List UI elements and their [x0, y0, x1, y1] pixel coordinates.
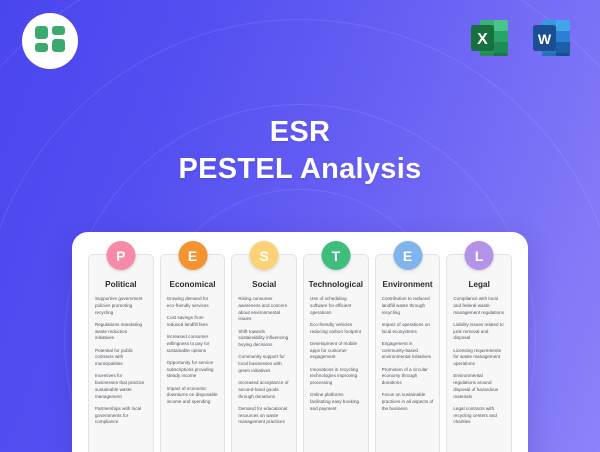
pestel-letter-badge: T — [321, 241, 350, 270]
pestel-letter-badge: S — [250, 241, 279, 270]
pestel-item: Potential for public contracts with muni… — [95, 348, 147, 368]
pestel-item: Increased acceptance of second-hand good… — [238, 380, 290, 400]
pestel-columns: PPoliticalSupportive government policies… — [88, 254, 512, 452]
pestel-item-list: Rising consumer awareness and concern ab… — [232, 296, 296, 426]
excel-icon[interactable]: X — [466, 14, 514, 62]
pestel-column-social[interactable]: SSocialRising consumer awareness and con… — [231, 254, 297, 452]
pestel-column-economical[interactable]: EEconomicalGrowing demand for eco-friend… — [160, 254, 226, 452]
pestel-item: Increased consumer willingness to pay fo… — [167, 334, 219, 354]
pestel-item: Impact of economic downturns on disposab… — [167, 386, 219, 406]
office-app-icons: X W — [466, 14, 576, 62]
pestel-column-title: Technological — [304, 280, 368, 296]
pestel-item: Impact of operations on local ecosystems — [382, 322, 434, 336]
pestel-column-technological[interactable]: TTechnologicalUse of scheduling software… — [303, 254, 369, 452]
pestel-item: Environmental regulations around disposa… — [453, 373, 505, 400]
pestel-column-title: Legal — [447, 280, 511, 296]
svg-text:X: X — [477, 31, 488, 48]
word-icon[interactable]: W — [528, 14, 576, 62]
pestel-item: Growing demand for eco-friendly services — [167, 296, 219, 310]
svg-text:W: W — [538, 31, 552, 47]
pestel-item: Use of scheduling software for efficient… — [310, 296, 362, 316]
pestel-item: Partnerships with local governments for … — [95, 406, 147, 426]
pestel-column-title: Social — [232, 280, 296, 296]
pestel-item: Focus on sustainable practices in all as… — [382, 392, 434, 412]
pestel-item-list: Growing demand for eco-friendly services… — [161, 296, 225, 406]
pestel-column-title: Economical — [161, 280, 225, 296]
pestel-letter-badge: E — [178, 241, 207, 270]
pestel-letter-badge: E — [393, 241, 422, 270]
pestel-item-list: Contribution to reduced landfill waste t… — [376, 296, 440, 413]
pestel-item: Promotion of a circular economy through … — [382, 367, 434, 387]
pestel-item: Rising consumer awareness and concern ab… — [238, 296, 290, 323]
title-line-2: PESTEL Analysis — [0, 150, 600, 189]
pestel-item: Compliance with local and federal waste … — [453, 296, 505, 316]
pestel-item: Contribution to reduced landfill waste t… — [382, 296, 434, 316]
pestel-item: Engagement in community-based environmen… — [382, 341, 434, 361]
pestel-column-political[interactable]: PPoliticalSupportive government policies… — [88, 254, 154, 452]
pestel-column-title: Political — [89, 280, 153, 296]
pestel-item: Innovations in recycling technologies im… — [310, 367, 362, 387]
pestel-column-title: Environment — [376, 280, 440, 296]
pestel-item: Licensing requirements for waste managem… — [453, 348, 505, 368]
pestel-item: Online platforms facilitating easy booki… — [310, 392, 362, 412]
pestel-item: Demand for educational resources on wast… — [238, 406, 290, 426]
pestel-column-environment[interactable]: EEnvironmentContribution to reduced land… — [375, 254, 441, 452]
pestel-item: Opportunity for service subscriptions pr… — [167, 360, 219, 380]
pestel-column-legal[interactable]: LLegalCompliance with local and federal … — [446, 254, 512, 452]
pestel-item: Eco-friendly vehicles reducing carbon fo… — [310, 322, 362, 336]
pestel-item-list: Compliance with local and federal waste … — [447, 296, 511, 426]
slide-canvas: X W ESR PESTEL Analysis PPoliticalSuppor… — [0, 0, 600, 452]
pestel-item: Incentives for businesses that practice … — [95, 373, 147, 400]
title-line-1: ESR — [0, 116, 600, 150]
pestel-item: Regulations mandating waste reduction in… — [95, 322, 147, 342]
pestel-item-list: Supportive government policies promoting… — [89, 296, 153, 426]
grid-squares-logo-icon — [33, 24, 67, 58]
pestel-panel: PPoliticalSupportive government policies… — [72, 232, 528, 452]
page-title: ESR PESTEL Analysis — [0, 116, 600, 189]
pestel-item: Supportive government policies promoting… — [95, 296, 147, 316]
pestel-item: Cost savings from reduced landfill fees — [167, 315, 219, 329]
pestel-item-list: Use of scheduling software for efficient… — [304, 296, 368, 413]
pestel-letter-badge: L — [465, 241, 494, 270]
pestel-item: Liability issues related to junk removal… — [453, 322, 505, 342]
pestel-item: Legal contracts with recycling centers a… — [453, 406, 505, 426]
pestel-item: Shift towards sustainability influencing… — [238, 329, 290, 349]
pestel-letter-badge: P — [106, 241, 135, 270]
pestel-item: Community support for local businesses w… — [238, 354, 290, 374]
pestel-item: Development of mobile apps for customer … — [310, 341, 362, 361]
brand-logo[interactable] — [22, 13, 78, 69]
